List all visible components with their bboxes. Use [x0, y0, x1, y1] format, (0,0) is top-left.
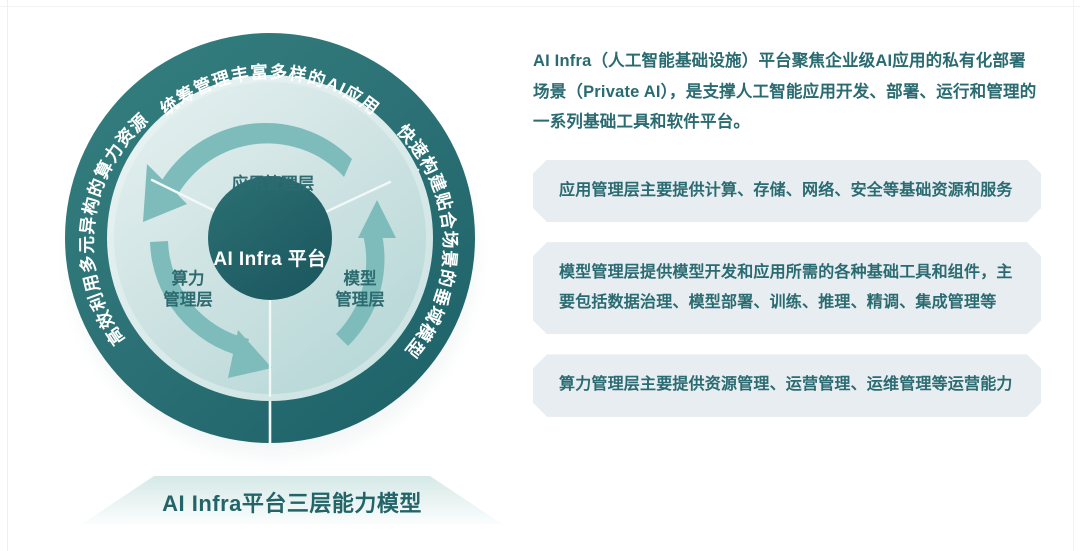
three-layer-wheel-diagram: 统筹管理丰富多样的AI应用 高效利用多元异构的算力资源 快速构建贴合场景的垂域模… — [48, 16, 498, 536]
page-edge-line-left — [7, 0, 8, 551]
description-panel: AI Infra（人工智能基础设施）平台聚焦企业级AI应用的私有化部署场景（Pr… — [533, 46, 1041, 417]
wheel-graphic: 统筹管理丰富多样的AI应用 高效利用多元异构的算力资源 快速构建贴合场景的垂域模… — [48, 16, 498, 476]
info-card-model-layer: 模型管理层提供模型开发和应用所需的各种基础工具和组件，主要包括数据治理、模型部署… — [533, 242, 1041, 334]
infographic-page: 统筹管理丰富多样的AI应用 高效利用多元异构的算力资源 快速构建贴合场景的垂域模… — [0, 0, 1080, 551]
info-card-application-layer: 应用管理层主要提供计算、存储、网络、安全等基础资源和服务 — [533, 160, 1041, 223]
info-card-compute-layer: 算力管理层主要提供资源管理、运营管理、运维管理等运营能力 — [533, 354, 1041, 417]
page-edge-line-top — [0, 6, 1080, 7]
platform-banner: AI Infra平台三层能力模型 — [82, 474, 502, 528]
platform-banner-shape — [82, 474, 502, 528]
center-circle — [208, 176, 332, 300]
intro-paragraph: AI Infra（人工智能基础设施）平台聚焦企业级AI应用的私有化部署场景（Pr… — [533, 46, 1041, 138]
page-edge-line-right — [1073, 0, 1074, 551]
